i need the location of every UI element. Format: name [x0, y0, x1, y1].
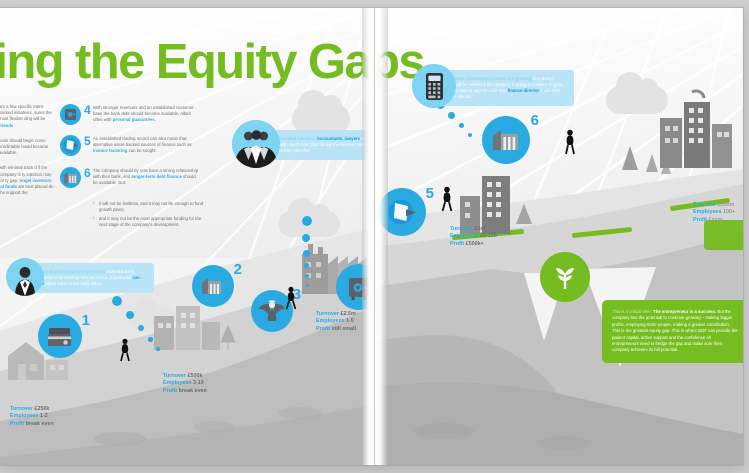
stat-value: £500k [187, 373, 202, 379]
path-dot [303, 250, 310, 257]
stat-key: Employees [316, 318, 344, 324]
city-skyline-icon [656, 88, 743, 172]
callout-businessman: Many of successful entrepreneurs underst… [28, 263, 154, 293]
page-fold [362, 8, 388, 465]
stats-stage-2: Turnover £500k Employees 3-10 Profit bre… [163, 373, 207, 395]
conclusion-green-box: This is a critical time. The entrepreneu… [602, 300, 743, 363]
step-text: With stronger revenues and an establishe… [93, 105, 199, 123]
stat-key: Profit [163, 388, 177, 394]
bullet-list: it will not be limitless, and it may not… [93, 201, 205, 231]
safe-vault-icon [60, 104, 81, 125]
stat-value: £500k+ [466, 241, 484, 247]
grass-edge [704, 220, 743, 250]
building-cluster-icon [150, 296, 246, 358]
walking-figure-icon [284, 286, 298, 310]
stage-step-1: 1 [38, 314, 82, 358]
path-dot [302, 216, 312, 226]
growth-sprout-badge [540, 252, 590, 302]
fold-line [374, 8, 375, 465]
stat-key: Profit [316, 326, 330, 332]
step-number: 5 [426, 185, 434, 202]
step-number: 4 [84, 103, 91, 117]
stat-value: £xxm [709, 217, 723, 223]
callout-heading: Many of successful entrepreneurs [37, 269, 105, 274]
calculator-icon [412, 64, 456, 108]
stat-value: break even [26, 421, 54, 427]
stat-value: £5m [474, 226, 485, 232]
path-dot [448, 112, 455, 119]
globe-arrow-icon [385, 195, 419, 229]
stat-key: Employees [450, 233, 478, 239]
greenbox-lead: This is a critical time. [612, 309, 652, 314]
path-dot [112, 296, 122, 306]
path-dot [148, 337, 153, 342]
list-item: it will not be limitless, and it may not… [93, 201, 205, 213]
path-dot [304, 263, 309, 268]
stat-value: 20-150 [480, 233, 497, 239]
walking-figure-icon [440, 186, 454, 212]
stats-stage-1: Turnover £250k Employees 1-2 Profit brea… [10, 406, 54, 428]
stat-value: £250k [34, 406, 49, 412]
stats-stage-5: Turnover £100m Employees 100+ Profit £xx… [693, 202, 735, 224]
businessman-avatar-icon [6, 258, 44, 296]
credit-card-icon [45, 321, 75, 351]
stat-value: 1-5 [346, 318, 354, 324]
step-number: 6 [531, 112, 539, 129]
path-dot [138, 325, 144, 331]
stat-key: Profit [450, 241, 464, 247]
stat-key: Profit [693, 217, 707, 223]
stat-key: Employees [10, 413, 38, 419]
path-dot [126, 311, 134, 319]
classical-bank-icon [489, 123, 523, 157]
stat-key: Turnover [163, 373, 186, 379]
walking-figure-icon [118, 338, 132, 362]
stats-stage-4: Turnover £5m Employees 20-150 Profit £50… [450, 226, 497, 248]
step-number: 1 [82, 312, 90, 329]
stats-stage-3: Turnover £2.5m Employees 1-5 Profit stil… [316, 311, 356, 333]
step-number: 5 [84, 134, 91, 148]
step-number: 2 [234, 261, 242, 278]
list-item: and it may not be the most appropriate f… [93, 216, 205, 228]
stat-value: break even [179, 388, 207, 394]
stat-value: 3-10 [193, 380, 204, 386]
path-dot [305, 274, 309, 278]
stat-key: Profit [10, 421, 24, 427]
globe-arrow-icon [60, 135, 81, 156]
stat-value: 100+ [723, 209, 735, 215]
stat-key: Employees [163, 380, 191, 386]
stat-key: Employees [693, 209, 721, 215]
stat-key: Turnover [693, 202, 716, 208]
stage-step-6: 6 [482, 116, 530, 164]
stat-value: £100m [717, 202, 734, 208]
infographic-spread: 4 With stronger revenues and an establis… [0, 0, 749, 473]
angel-investor-icon [257, 296, 287, 326]
paragraph: with minimal track d if the company is t… [0, 165, 57, 196]
page-title: ging the Equity Gaps [0, 36, 424, 88]
stat-value: £2.5m [340, 311, 355, 317]
stat-key: Turnover [10, 406, 33, 412]
walking-figure-icon [563, 129, 577, 155]
stat-value: 1-2 [40, 413, 48, 419]
path-dot [156, 347, 160, 351]
stat-key: Turnover [316, 311, 339, 317]
stat-value: still small [332, 326, 357, 332]
step-number: 6 [84, 166, 91, 180]
paragraph: bank should begin come predictable hould… [0, 138, 57, 157]
step-text: The company should by now have a strong … [93, 168, 199, 186]
greenbox-body: The entrepreneur is a success. But the c… [612, 309, 738, 352]
bank-building-icon [199, 272, 227, 300]
clipped-text-column: am a few specific ment-backed initiative… [0, 104, 57, 205]
stage-step-2: 2 [192, 265, 234, 307]
stat-key: Turnover [450, 226, 473, 232]
three-people-icon [232, 120, 280, 168]
step-text: An established trading record can also m… [93, 136, 199, 154]
right-page: Management information systems are growi… [374, 8, 743, 465]
sprout-plant-icon [548, 260, 582, 294]
classical-bank-icon [60, 167, 81, 188]
path-dot [302, 234, 310, 242]
paragraph: am a few specific ment-backed initiative… [0, 104, 57, 129]
